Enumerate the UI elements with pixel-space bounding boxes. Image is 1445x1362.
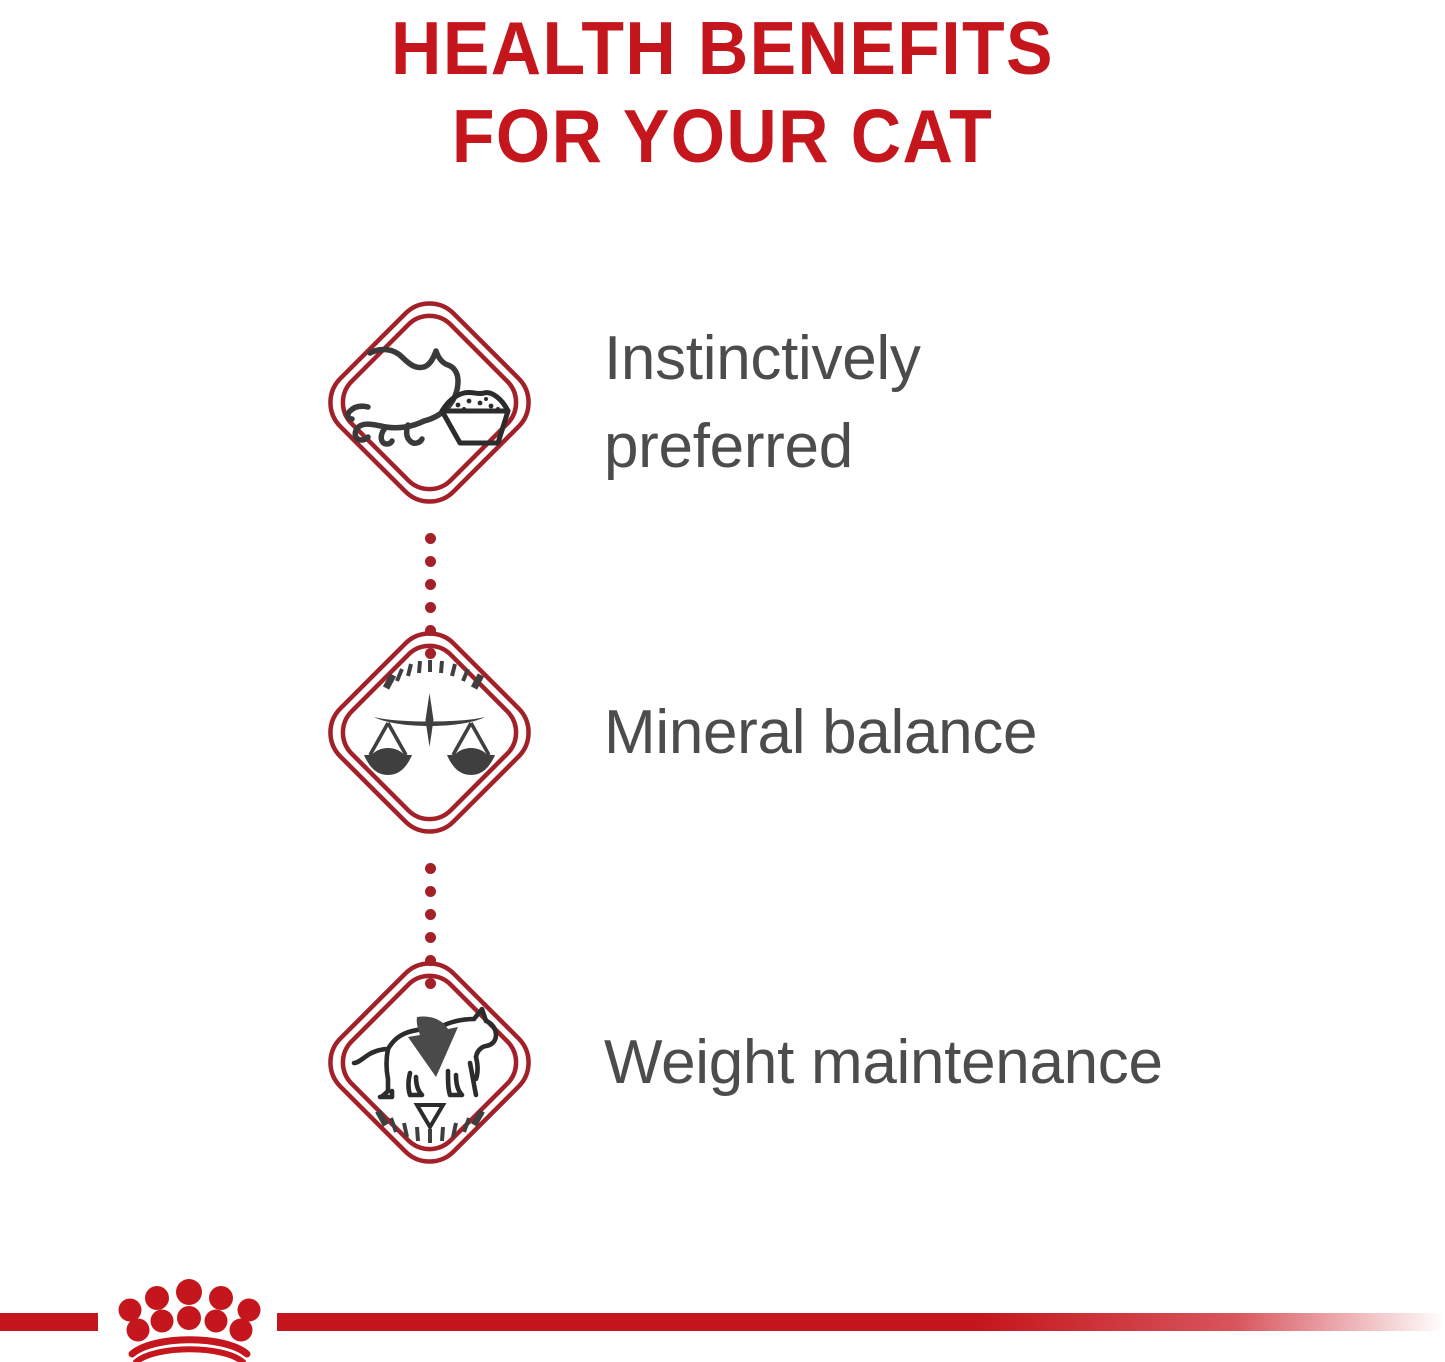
connector-dot bbox=[425, 648, 436, 659]
footer-bar-left bbox=[0, 1313, 98, 1331]
royal-canin-crown-logo bbox=[112, 1278, 267, 1362]
footer bbox=[0, 1266, 1445, 1362]
benefit-label-line-2: preferred bbox=[604, 412, 853, 481]
page-title-line-2: FOR YOUR CAT bbox=[51, 92, 1395, 180]
connector-dot bbox=[425, 602, 436, 613]
benefit-item-instinctively-preferred: Instinctively preferred bbox=[0, 285, 1445, 520]
connector-dot bbox=[425, 556, 436, 567]
connector-dot bbox=[425, 863, 436, 874]
footer-bar-right bbox=[277, 1313, 1445, 1331]
dotted-connector-1 bbox=[420, 533, 440, 671]
connector-dot bbox=[425, 533, 436, 544]
dotted-connector-2 bbox=[420, 863, 440, 1001]
benefit-item-mineral-balance: Mineral balance bbox=[0, 615, 1445, 850]
connector-dot bbox=[425, 579, 436, 590]
connector-dot bbox=[425, 909, 436, 920]
connector-dot bbox=[425, 978, 436, 989]
connector-dot bbox=[425, 955, 436, 966]
benefit-label-weight-maintenance: Weight maintenance bbox=[604, 945, 1434, 1180]
benefit-label-instinctively-preferred: Instinctively preferred bbox=[604, 285, 1434, 520]
benefit-label-mineral-balance: Mineral balance bbox=[604, 615, 1434, 850]
connector-dot bbox=[425, 886, 436, 897]
benefit-label-line-1: Weight maintenance bbox=[604, 1025, 1163, 1101]
cat-eating-bowl-icon bbox=[312, 285, 547, 520]
benefit-label-line-1: Instinctively bbox=[604, 324, 921, 393]
health-benefits-list: Instinctively preferred bbox=[0, 285, 1445, 1180]
page-title-line-1: HEALTH BENEFITS bbox=[51, 4, 1395, 92]
benefit-label-line-1: Mineral balance bbox=[604, 695, 1037, 771]
connector-dot bbox=[425, 625, 436, 636]
benefit-item-weight-maintenance: Weight maintenance bbox=[0, 945, 1445, 1180]
page-title: HEALTH BENEFITS FOR YOUR CAT bbox=[0, 0, 1445, 180]
connector-dot bbox=[425, 932, 436, 943]
